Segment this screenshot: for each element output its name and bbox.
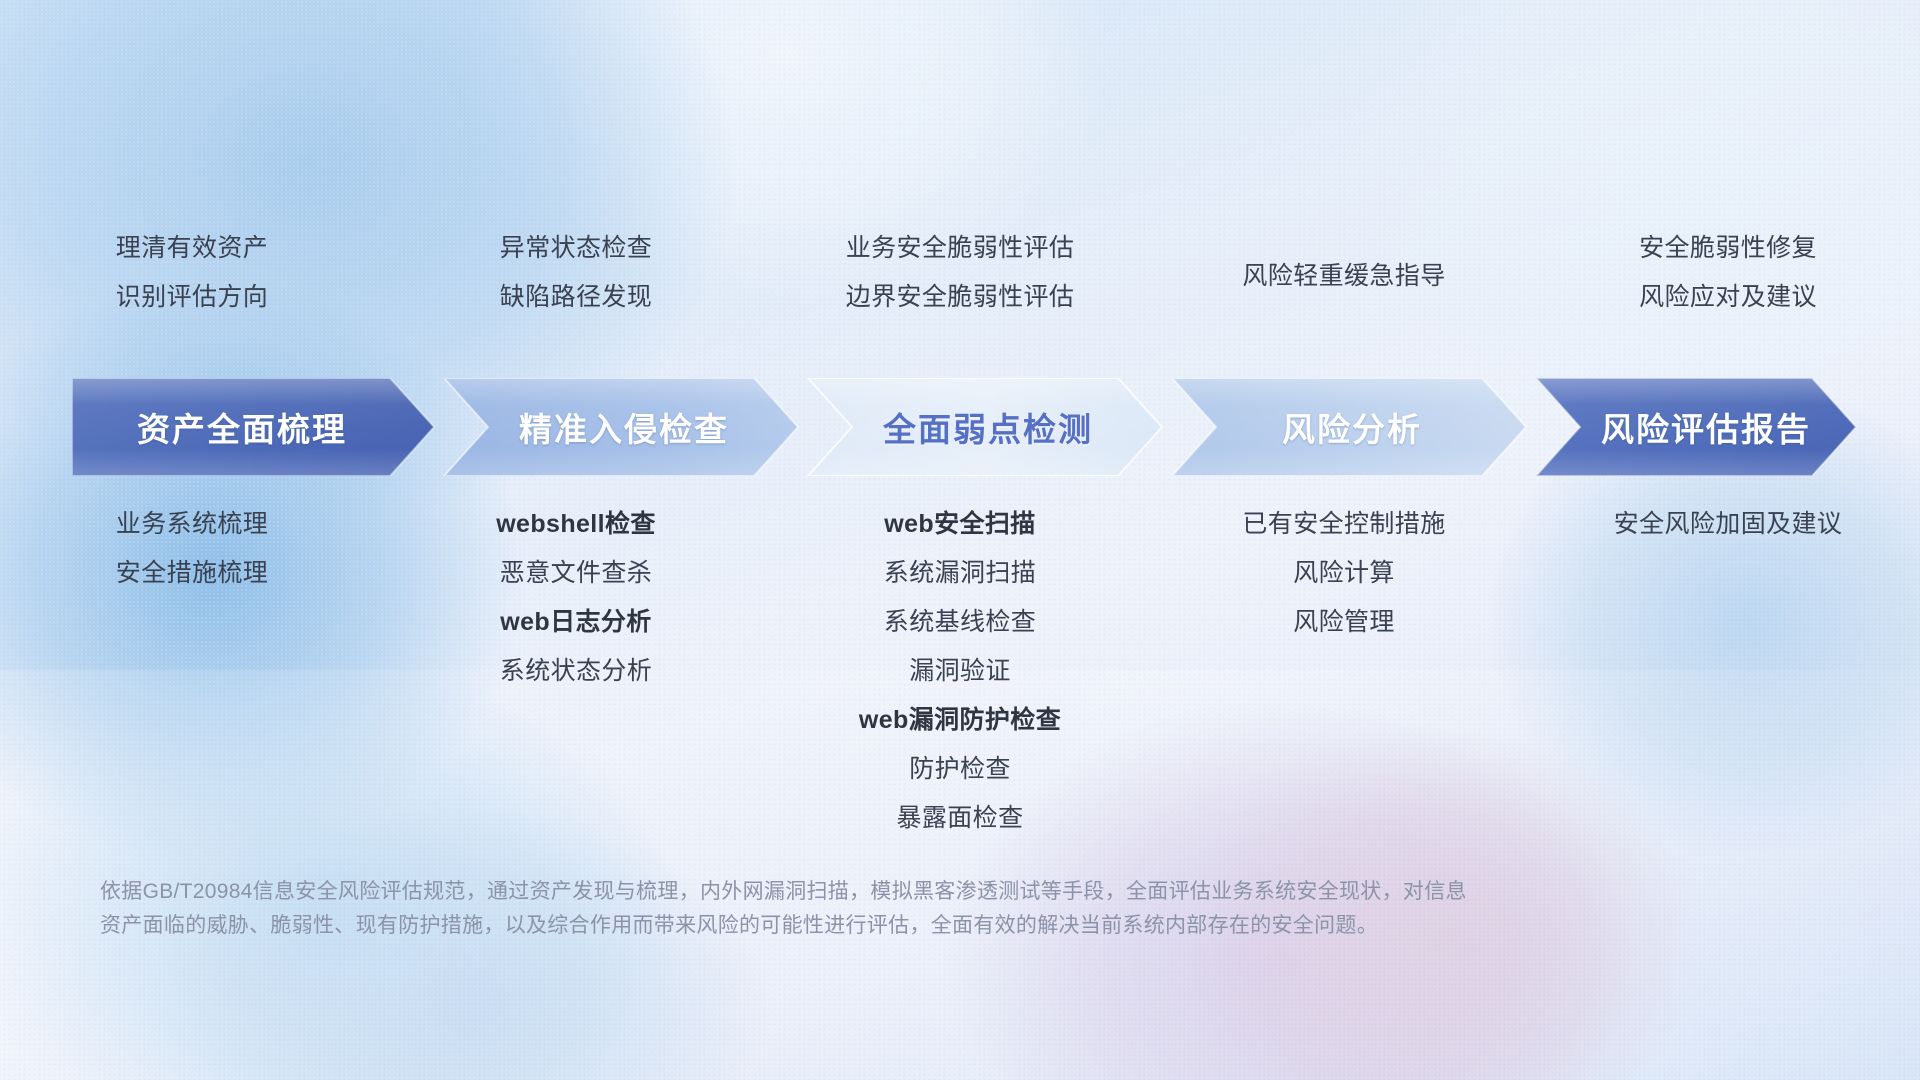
top-items-risk-analysis: 风险轻重缓急指导: [1152, 224, 1536, 332]
top-item: 理清有效资产: [116, 224, 268, 273]
bottom-item: 恶意文件查杀: [500, 549, 652, 598]
top-item: 风险应对及建议: [1639, 273, 1817, 322]
bottom-item: 系统基线检查: [884, 598, 1036, 647]
top-item: 异常状态检查: [500, 224, 652, 273]
top-item: 风险轻重缓急指导: [1242, 252, 1445, 301]
process-diagram: 理清有效资产 识别评估方向 异常状态检查 缺陷路径发现 业务安全脆弱性评估 边界…: [0, 0, 1920, 1080]
top-item: 安全脆弱性修复: [1639, 224, 1817, 273]
chevron-label-risk-analysis[interactable]: 风险分析: [1192, 378, 1512, 476]
bottom-items-intrusion-check: webshell检查 恶意文件查杀 web日志分析 系统状态分析: [384, 500, 768, 820]
footer-note-line-1: 依据GB/T20984信息安全风险评估规范，通过资产发现与梳理，内外网漏洞扫描，…: [100, 875, 1680, 909]
top-items-weakness-detection: 业务安全脆弱性评估 边界安全脆弱性评估: [768, 224, 1152, 332]
process-chevron-band: 资产全面梳理 精准入侵检查 全面弱点检测 风险分析 风险评估报告: [72, 378, 1856, 476]
bottom-item: 暴露面检查: [896, 794, 1023, 843]
bottom-item: 风险计算: [1293, 549, 1395, 598]
bottom-item: 业务系统梳理: [116, 500, 268, 549]
bottom-item: 系统状态分析: [500, 647, 652, 696]
bottom-item: web日志分析: [500, 598, 651, 647]
chevron-label-intrusion-check[interactable]: 精准入侵检查: [464, 378, 784, 476]
top-item: 识别评估方向: [116, 273, 268, 322]
bottom-item: web安全扫描: [884, 500, 1035, 549]
footer-note-line-2: 资产面临的威胁、脆弱性、现有防护措施，以及综合作用而带来风险的可能性进行评估，全…: [100, 909, 1680, 943]
bottom-item: webshell检查: [496, 500, 656, 549]
bottom-item: 安全风险加固及建议: [1614, 500, 1843, 549]
chevron-label-weakness-detection[interactable]: 全面弱点检测: [828, 378, 1148, 476]
bottom-items-risk-analysis: 已有安全控制措施 风险计算 风险管理: [1152, 500, 1536, 820]
bottom-item: 漏洞验证: [909, 647, 1011, 696]
bottom-item: 安全措施梳理: [116, 549, 268, 598]
bottom-item: web漏洞防护检查: [859, 696, 1061, 745]
bottom-item: 风险管理: [1293, 598, 1395, 647]
top-item: 业务安全脆弱性评估: [846, 224, 1075, 273]
top-items-asset-inventory: 理清有效资产 识别评估方向: [0, 224, 384, 332]
footer-note: 依据GB/T20984信息安全风险评估规范，通过资产发现与梳理，内外网漏洞扫描，…: [100, 875, 1680, 943]
bottom-item: 已有安全控制措施: [1242, 500, 1445, 549]
top-items-intrusion-check: 异常状态检查 缺陷路径发现: [384, 224, 768, 332]
top-items-row: 理清有效资产 识别评估方向 异常状态检查 缺陷路径发现 业务安全脆弱性评估 边界…: [0, 224, 1920, 332]
bottom-item: 防护检查: [909, 745, 1011, 794]
top-item: 缺陷路径发现: [500, 273, 652, 322]
top-items-risk-report: 安全脆弱性修复 风险应对及建议: [1536, 224, 1920, 332]
chevron-label-asset-inventory[interactable]: 资产全面梳理: [72, 378, 412, 476]
bottom-items-risk-report: 安全风险加固及建议: [1536, 500, 1920, 820]
bottom-item: 系统漏洞扫描: [884, 549, 1036, 598]
bottom-items-weakness-detection: web安全扫描 系统漏洞扫描 系统基线检查 漏洞验证 web漏洞防护检查 防护检…: [768, 500, 1152, 820]
top-item: 边界安全脆弱性评估: [846, 273, 1075, 322]
chevron-label-risk-report[interactable]: 风险评估报告: [1556, 378, 1856, 476]
bottom-items-asset-inventory: 业务系统梳理 安全措施梳理: [0, 500, 384, 820]
bottom-items-row: 业务系统梳理 安全措施梳理 webshell检查 恶意文件查杀 web日志分析 …: [0, 500, 1920, 820]
